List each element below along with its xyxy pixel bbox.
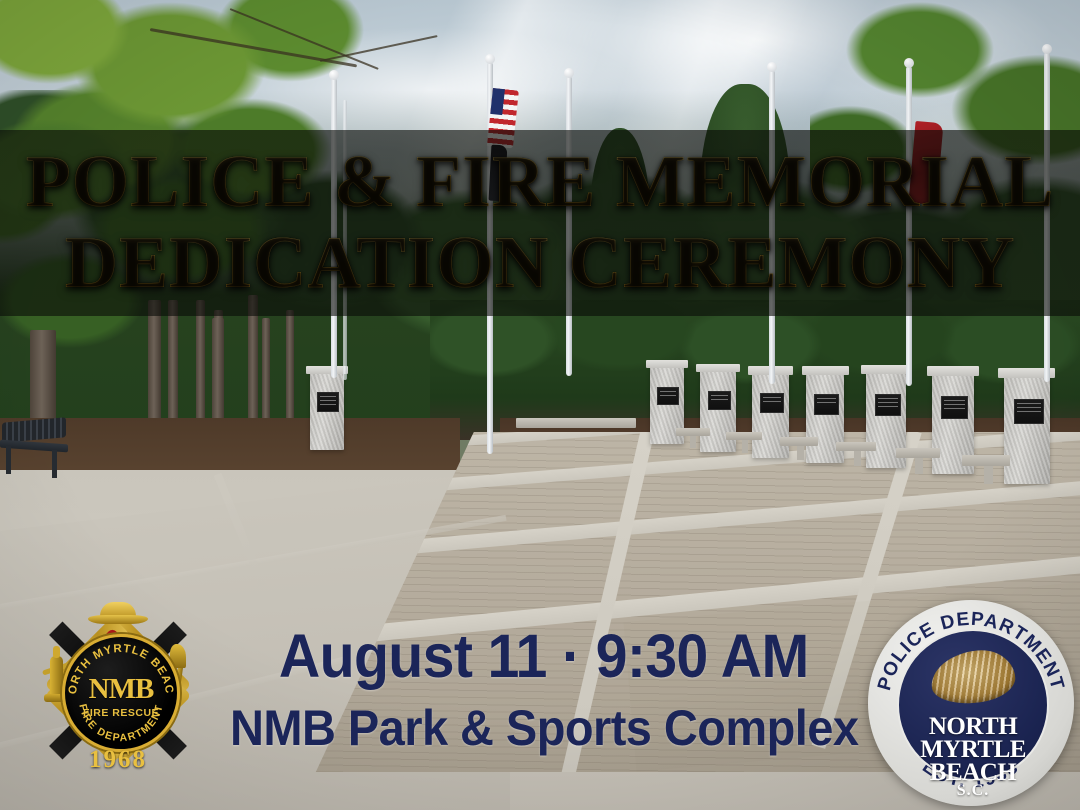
concrete-bench bbox=[896, 448, 940, 458]
memorial-plaque bbox=[875, 394, 901, 416]
flagpole-finial bbox=[1042, 44, 1052, 54]
event-venue: NMB Park & Sports Complex bbox=[230, 703, 858, 753]
bench-leg bbox=[6, 446, 11, 474]
page-title-line-1: POLICE & FIRE MEMORIAL bbox=[26, 147, 1055, 218]
tree-trunk bbox=[168, 300, 178, 430]
conch-shell-icon bbox=[929, 647, 1018, 707]
memorial-pillar-cap bbox=[861, 365, 911, 374]
flagpole-finial bbox=[904, 58, 914, 68]
bench-leg bbox=[742, 440, 748, 453]
event-date-time: August 11 · 9:30 AM bbox=[279, 626, 809, 687]
fire-helmet-icon bbox=[88, 602, 148, 626]
tree-trunk bbox=[196, 300, 205, 428]
tree-trunk bbox=[148, 300, 161, 430]
bench-leg bbox=[52, 450, 57, 478]
park-bench bbox=[0, 420, 70, 478]
memorial-pillar-cap bbox=[927, 366, 979, 376]
concrete-bench bbox=[780, 437, 818, 446]
concrete-bench bbox=[836, 442, 876, 451]
police-department-badge: POLICE DEPARTMENT EST. 1968 NORTH MYRTLE… bbox=[868, 600, 1074, 806]
fire-department-badge: NORTH MYRTLE BEACH FIRE DEPARTMENT NMB F… bbox=[18, 586, 218, 794]
bench-leg bbox=[797, 446, 804, 460]
police-name-line-3: BEACH bbox=[899, 761, 1047, 784]
police-badge-inner-disc: NORTH MYRTLE BEACH S.C. bbox=[897, 629, 1049, 781]
police-name-line-2: MYRTLE bbox=[899, 738, 1047, 761]
memorial-pillar-cap bbox=[646, 360, 688, 368]
memorial-plaque bbox=[317, 392, 339, 412]
event-flyer-poster: POLICE & FIRE MEMORIAL DEDICATION CEREMO… bbox=[0, 0, 1080, 810]
concrete-bench bbox=[676, 428, 710, 436]
memorial-pillar-cap bbox=[696, 364, 740, 372]
flagpole-finial bbox=[329, 70, 339, 80]
memorial-pillar-cap bbox=[306, 366, 348, 374]
memorial-pillar-cap bbox=[802, 366, 849, 375]
concrete-bench bbox=[962, 455, 1010, 466]
title-overlay-band: POLICE & FIRE MEMORIAL DEDICATION CEREMO… bbox=[0, 130, 1080, 316]
flagpole-finial bbox=[485, 54, 495, 64]
fire-badge-monogram: NMB bbox=[65, 675, 177, 704]
bench-leg bbox=[854, 451, 861, 466]
hydrant-cap bbox=[53, 646, 60, 658]
fire-badge-center-disc: NORTH MYRTLE BEACH FIRE DEPARTMENT NMB F… bbox=[62, 634, 180, 752]
memorial-plaque bbox=[760, 393, 784, 413]
police-name-line-1: NORTH bbox=[899, 715, 1047, 738]
memorial-plaque bbox=[814, 394, 839, 415]
tree-trunk bbox=[286, 310, 294, 435]
police-badge-name: NORTH MYRTLE BEACH S.C. bbox=[899, 715, 1047, 799]
memorial-pillar bbox=[1004, 376, 1050, 484]
bench-backrest bbox=[2, 417, 66, 443]
bench-leg bbox=[690, 436, 696, 448]
concrete-bench bbox=[516, 418, 636, 428]
flagpole-finial bbox=[767, 62, 777, 72]
concrete-bench bbox=[726, 432, 762, 440]
bench-leg bbox=[915, 458, 923, 474]
helmet-brim bbox=[88, 615, 148, 624]
police-name-line-4: S.C. bbox=[899, 784, 1047, 799]
fire-badge-subtitle: FIRE RESCUE bbox=[65, 707, 177, 719]
flagpole-finial bbox=[564, 68, 574, 78]
memorial-plaque bbox=[708, 391, 731, 410]
memorial-plaque bbox=[941, 396, 968, 419]
tree-trunk bbox=[262, 318, 270, 433]
page-title-line-2: DEDICATION CEREMONY bbox=[65, 228, 1016, 299]
bench-leg bbox=[984, 466, 993, 484]
event-details: August 11 · 9:30 AM NMB Park & Sports Co… bbox=[206, 626, 882, 753]
memorial-plaque bbox=[1014, 399, 1044, 424]
fire-badge-year: 1968 bbox=[18, 746, 218, 774]
memorial-plaque bbox=[657, 387, 679, 405]
